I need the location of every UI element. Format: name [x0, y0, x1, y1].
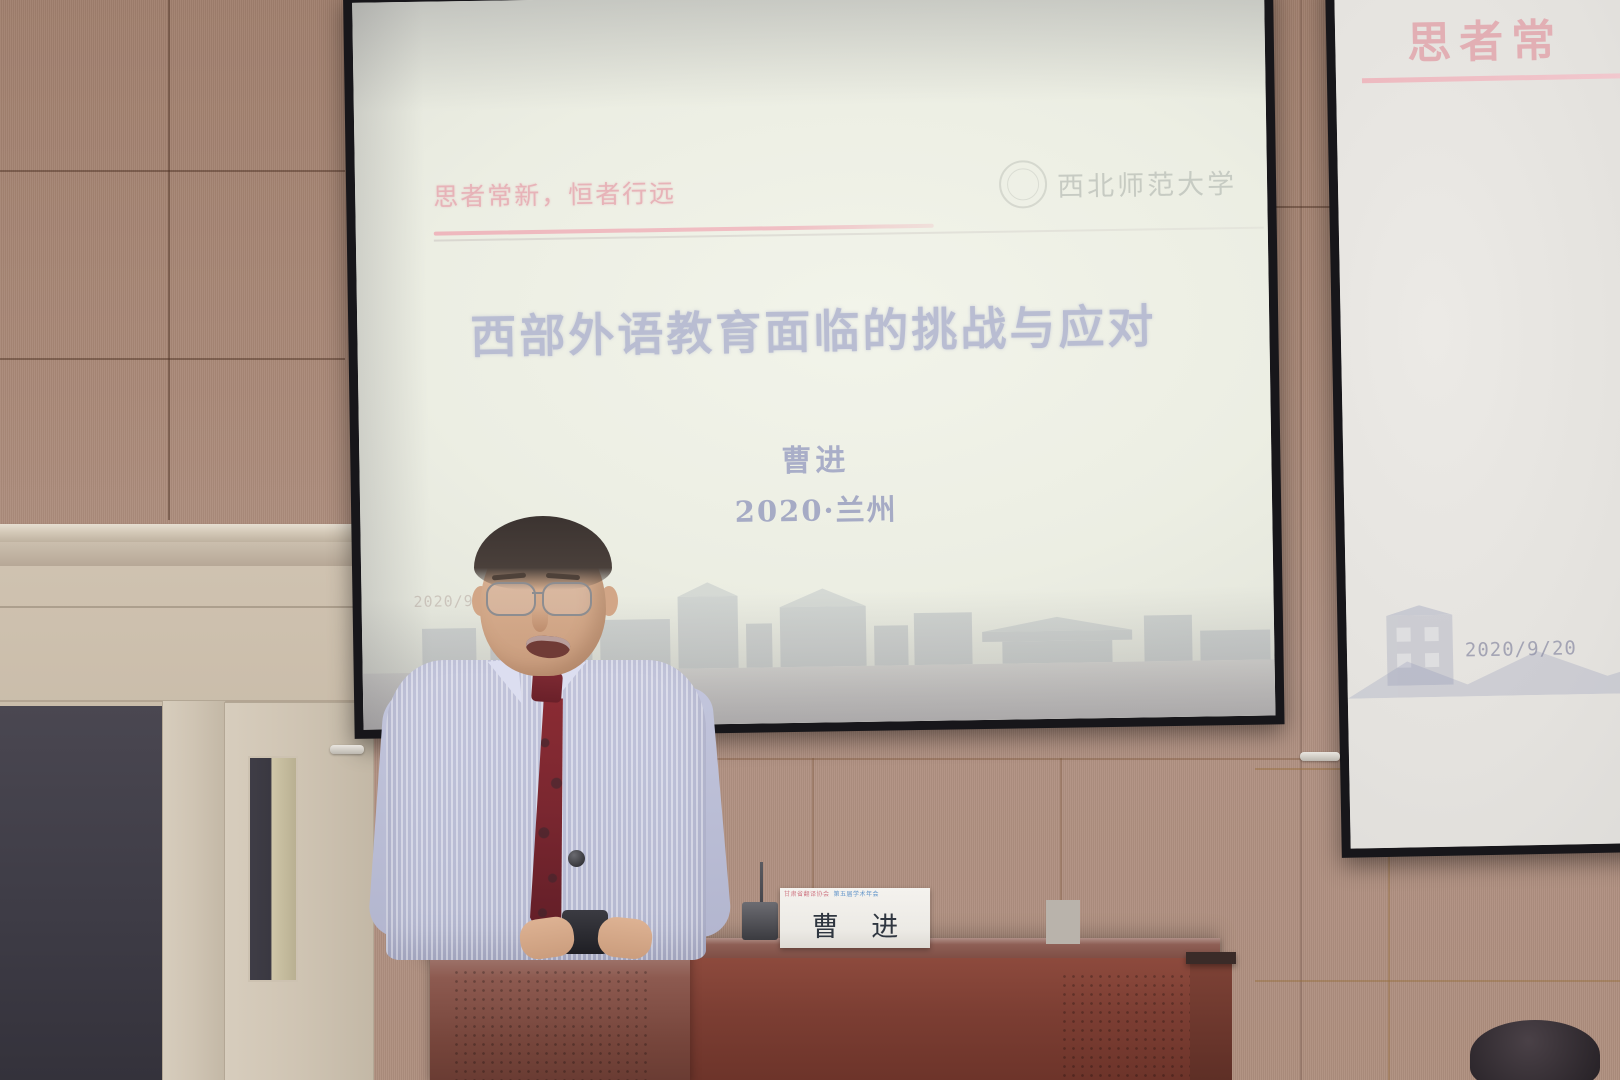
nameplate-band-left-text: 甘肃省翻译协会 — [784, 889, 830, 898]
secondary-slide: 思者常 2020/9/20 — [1334, 0, 1620, 849]
slide-title: 西部外语教育面临的挑战与应对 — [357, 288, 1270, 368]
nameplate-stand — [1046, 900, 1080, 944]
doorway-opening — [0, 706, 165, 1080]
wall-cornice-lower — [0, 542, 372, 566]
university-seal-icon — [999, 160, 1048, 209]
university-logo-text: 西北师范大学 — [1057, 161, 1238, 203]
eyeglasses-right-lens — [542, 582, 592, 616]
secondary-screen-surface: 思者常 2020/9/20 — [1334, 0, 1620, 849]
secondary-slide-date: 2020/9/20 — [1465, 637, 1577, 661]
wall-seam — [0, 170, 345, 172]
secondary-motto-underline — [1362, 73, 1620, 84]
exit-door[interactable] — [162, 700, 226, 1080]
eyeglasses-left-lens — [486, 582, 536, 616]
screen-mount-hook — [1300, 752, 1340, 761]
secondary-projection-screen: 思者常 2020/9/20 — [1325, 0, 1620, 858]
wall-seam — [168, 0, 170, 520]
lecture-hall-photo: 思者常新，恒者行远 西北师范大学 西部外语教育面临的挑战与应对 曹进 2020·… — [0, 0, 1620, 1080]
wall-seam — [1300, 0, 1302, 1080]
wall-seam — [0, 358, 345, 360]
wall-seam — [660, 758, 1310, 760]
nameplate-header-band: 甘肃省翻译协会 第五届学术年会 — [780, 888, 930, 899]
speaker-right-hand — [596, 915, 654, 960]
table-right-block — [1190, 960, 1232, 1080]
lapel-microphone-icon — [568, 850, 585, 867]
table-right-top — [1186, 952, 1236, 964]
wall-cornice — [0, 524, 372, 542]
slide-author: 曹进 — [359, 428, 1272, 486]
microphone-base[interactable] — [742, 902, 778, 940]
projector-falloff-top — [352, 0, 1266, 113]
university-logo: 西北师范大学 — [999, 157, 1238, 209]
speaker-nose — [532, 608, 548, 632]
nameplate-band-right-text: 第五届学术年会 — [834, 889, 880, 898]
slide-motto: 思者常新，恒者行远 — [433, 174, 677, 214]
screen-mount-hook-left — [330, 745, 364, 754]
eyeglasses-bridge — [532, 592, 544, 594]
slide-motto-row: 思者常新，恒者行远 — [433, 174, 677, 214]
exit-door-second[interactable] — [224, 702, 374, 1080]
secondary-slide-motto: 思者常 — [1407, 4, 1564, 71]
nameplate-name-text: 曹 进 — [780, 901, 930, 948]
wall-seam — [0, 606, 372, 608]
wall-seam — [1255, 980, 1620, 982]
nameplate: 甘肃省翻译协会 第五届学术年会 曹 进 — [780, 888, 930, 948]
lectern-perforated-panel — [452, 968, 652, 1080]
door-window-slit — [248, 756, 298, 982]
speaker-person — [386, 520, 716, 960]
